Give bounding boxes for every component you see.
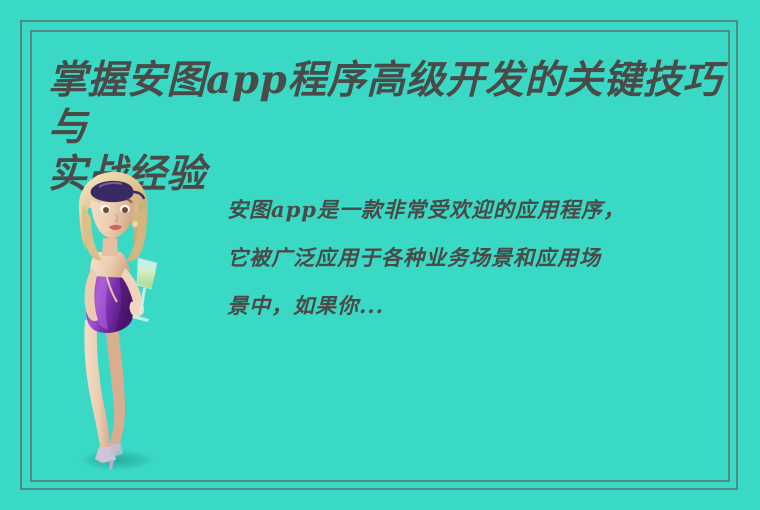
excerpt-line-3: 景中，如果你...	[227, 293, 384, 318]
figure-eye-right-iris	[122, 207, 128, 213]
woman-with-champagne-illustration	[55, 168, 185, 473]
figure-front-leg	[84, 318, 110, 452]
article-cover-card: 掌握安图app程序高级开发的关键技巧与实战经验	[0, 0, 760, 510]
excerpt-line-1: 安图app是一款非常受欢迎的应用程序，	[227, 197, 625, 222]
figure-neck	[102, 238, 118, 256]
figure-earring	[132, 221, 138, 227]
article-excerpt: 安图app是一款非常受欢迎的应用程序，它被广泛应用于各种业务场景和应用场景中，如…	[227, 186, 697, 330]
excerpt-line-2: 它被广泛应用于各种业务场景和应用场	[227, 245, 601, 270]
figure-eye-left-iris	[103, 207, 109, 213]
champagne-glass-base	[132, 315, 149, 322]
page-title-line-1: 掌握安图app程序高级开发的关键技巧与	[48, 57, 722, 150]
